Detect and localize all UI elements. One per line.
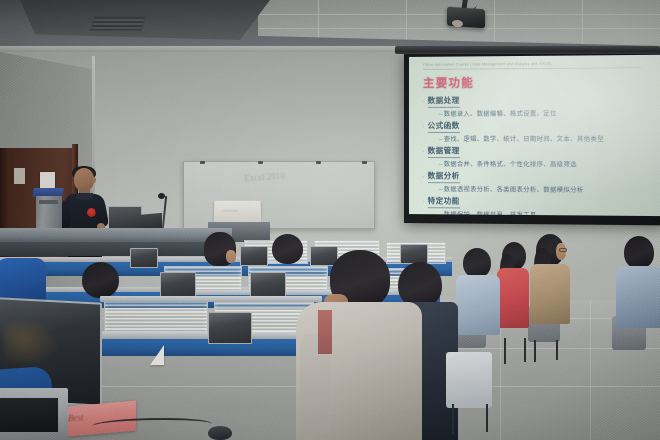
attendee-torso	[616, 266, 660, 328]
bullet-dash-icon: ·	[423, 100, 425, 105]
bullet-detail: –数据录入、数据编辑、格式设置、定位	[439, 108, 650, 118]
attendee-foreground-gray-suit	[296, 250, 422, 440]
instructor-ear	[92, 177, 96, 183]
attendee-light-blue-shirt	[458, 248, 500, 344]
bullet-sub-dash-icon: –	[439, 161, 443, 168]
lab-monitor	[208, 312, 252, 344]
attendee-torso	[456, 275, 500, 335]
bullet-detail: –数据合并、条件格式、个性化排序、高级筛选	[439, 159, 650, 169]
bullet-detail: –查找、逻辑、数学、统计、日期时间、文本、其他类型	[439, 133, 650, 142]
desk-label-text: Best	[68, 412, 84, 423]
bullet-sub-dash-icon: –	[439, 135, 443, 142]
desk-cable	[92, 418, 212, 432]
attendee-head	[463, 248, 491, 278]
chair-leg	[524, 338, 526, 362]
bullet-dash-icon: ·	[423, 200, 425, 205]
lab-monitor	[250, 272, 286, 298]
glasses-icon	[559, 248, 567, 252]
attendee-lanyard	[318, 310, 332, 354]
screen-roller-bar[interactable]	[395, 46, 660, 54]
bullet-dash-icon: ·	[423, 150, 425, 155]
bullet-detail: –数据保护、数据共享、开发工具	[439, 209, 650, 216]
attendee-head	[82, 262, 119, 298]
lab-monitor	[240, 246, 268, 266]
attendee-pink-top	[498, 242, 532, 338]
instructor-desk-front	[0, 242, 228, 256]
whiteboard: Excel 2010	[183, 161, 375, 229]
bullet-sub-dash-icon: –	[439, 110, 443, 117]
bullet-detail-text: 数据合并、条件格式、个性化排序、高级筛选	[444, 161, 577, 168]
bullet-heading-text: 公式函数	[428, 120, 460, 133]
bullet-dash-icon: ·	[423, 175, 425, 180]
classroom-photo: Office Automation Course | Data Manageme…	[0, 0, 660, 440]
bullet-dash-icon: ·	[423, 125, 425, 130]
attendee-head	[624, 236, 654, 269]
attendee-torso	[497, 268, 529, 328]
bullet-detail-text: 数据录入、数据编辑、格式设置、定位	[444, 110, 557, 117]
slide-bullet-list: ·数据处理 –数据录入、数据编辑、格式设置、定位 ·公式函数 –查找、逻辑、数学…	[423, 94, 650, 216]
bullet-heading: ·数据管理	[423, 145, 650, 158]
chair-leg	[452, 404, 454, 434]
bullet-detail-text: 查找、逻辑、数学、统计、日期时间、文本、其他类型	[444, 135, 604, 142]
attendee-torso	[530, 264, 570, 324]
microphone-icon	[158, 193, 165, 199]
ceiling-vent	[90, 16, 147, 31]
chair-leg	[486, 404, 488, 432]
bullet-detail: –数据透视表分析、各类图表分析、数据模拟分析	[439, 184, 650, 194]
bullet-detail-text: 数据透视表分析、各类图表分析、数据模拟分析	[444, 186, 584, 194]
slide-header-rule	[423, 67, 641, 70]
wall-notice-paper-2	[14, 168, 25, 184]
lab-monitor	[160, 272, 196, 298]
chair[interactable]	[446, 352, 492, 408]
slide-header: Office Automation Course | Data Manageme…	[423, 61, 650, 67]
chair-leg	[504, 338, 506, 364]
chair-leg	[556, 340, 558, 360]
slide-content: Office Automation Course | Data Manageme…	[409, 55, 660, 216]
lab-monitor	[130, 248, 158, 268]
bullet-heading-text: 数据处理	[428, 95, 460, 108]
attendee-khaki-jacket	[532, 234, 572, 338]
bullet-detail-text: 数据保护、数据共享、开发工具	[444, 211, 537, 216]
bullet-heading: ·特定功能	[423, 195, 650, 209]
whiteboard-ink: Excel 2010	[244, 171, 285, 184]
projector-lens-icon	[452, 20, 463, 28]
monitor-glare	[4, 322, 58, 369]
attendee-face	[226, 250, 236, 263]
computer-mouse[interactable]	[208, 426, 232, 440]
bullet-heading-text: 数据管理	[428, 145, 460, 158]
bullet-heading: ·数据处理	[423, 94, 650, 108]
instructor-collar	[76, 193, 93, 200]
paper-note-on-partition	[150, 345, 164, 365]
projection-screen: Office Automation Course | Data Manageme…	[404, 51, 660, 226]
slide-title: 主要功能	[423, 73, 650, 91]
bullet-sub-dash-icon: –	[439, 211, 443, 216]
bullet-heading-text: 特定功能	[428, 195, 460, 208]
bullet-heading-text: 数据分析	[428, 170, 460, 183]
bullet-heading: ·数据分析	[423, 170, 650, 184]
bullet-sub-dash-icon: –	[439, 186, 443, 193]
bullet-heading: ·公式函数	[423, 120, 650, 133]
partition-frame-top	[100, 296, 322, 302]
chair-leg	[534, 340, 536, 362]
attendee-right-blue-shirt	[618, 236, 660, 344]
foreground-monitor-2	[0, 388, 68, 440]
